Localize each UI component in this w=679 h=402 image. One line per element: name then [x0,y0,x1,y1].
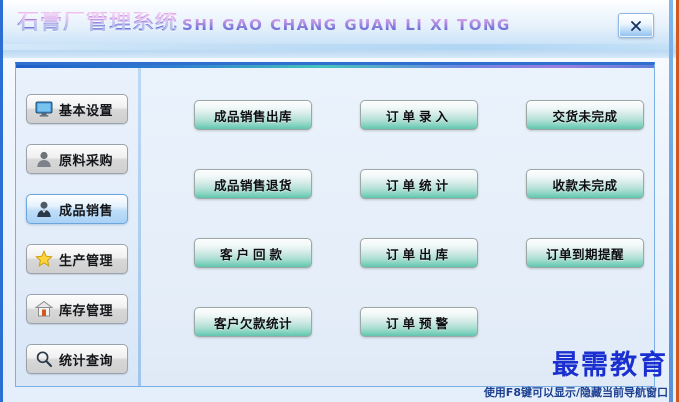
sidebar-item-label: 原料采购 [59,150,113,169]
button-order-outbound[interactable]: 订单出库 [360,238,478,268]
button-grid: 成品销售出库 成品销售退货 客户回款 客户欠款统计 订单录入 订单统计 [142,68,654,386]
app-title-pinyin: SHI GAO CHANG GUAN LI XI TONG [182,18,511,33]
button-order-entry[interactable]: 订单录入 [360,100,478,130]
button-label: 订单统计 [386,175,452,194]
button-label: 订单预警 [386,313,452,332]
button-finished-goods-sales-return[interactable]: 成品销售退货 [194,169,312,199]
title-bar-stripe [3,44,676,50]
window-right-accent [669,0,673,402]
user-gray-icon [34,149,54,169]
app-title-group: 石膏厂管理系统 SHI GAO CHANG GUAN LI XI TONG [17,12,511,34]
sidebar-item-raw-material-purchase[interactable]: 原料采购 [26,144,128,174]
sidebar-item-label: 成品销售 [59,200,113,219]
button-customer-arrears-statistics[interactable]: 客户欠款统计 [194,307,312,337]
sidebar-item-inventory-management[interactable]: 库存管理 [26,294,128,324]
button-label: 订单到期提醒 [546,244,624,263]
application-window: 石膏厂管理系统 SHI GAO CHANG GUAN LI XI TONG [0,0,679,402]
button-order-due-reminder[interactable]: 订单到期提醒 [526,238,644,268]
sidebar-item-label: 统计查询 [59,350,113,369]
button-label: 订单出库 [386,244,452,263]
sidebar-item-label: 基本设置 [59,100,113,119]
home-icon [34,299,54,319]
button-customer-payment[interactable]: 客户回款 [194,238,312,268]
button-label: 客户欠款统计 [214,313,292,332]
sidebar-divider [138,68,141,386]
button-delivery-incomplete[interactable]: 交货未完成 [526,100,644,130]
main-panel: 基本设置 原料采购 [15,62,655,387]
button-order-statistics[interactable]: 订单统计 [360,169,478,199]
status-bar-hint: 使用F8键可以显示/隐藏当前导航窗口 [484,384,668,400]
button-label: 成品销售退货 [214,175,292,194]
button-label: 订单录入 [386,106,452,125]
button-label: 客户回款 [220,244,286,263]
sidebar-item-production-management[interactable]: 生产管理 [26,244,128,274]
title-bar: 石膏厂管理系统 SHI GAO CHANG GUAN LI XI TONG [3,0,676,58]
star-icon [34,249,54,269]
sidebar-item-basic-settings[interactable]: 基本设置 [26,94,128,124]
button-label: 成品销售出库 [214,106,292,125]
close-button[interactable] [618,13,654,38]
app-root: 石膏厂管理系统 SHI GAO CHANG GUAN LI XI TONG [0,0,679,402]
button-payment-incomplete[interactable]: 收款未完成 [526,169,644,199]
user-blue-icon [34,199,54,219]
navigation-sidebar: 基本设置 原料采购 [16,68,139,386]
monitor-icon [34,99,54,119]
sidebar-item-statistics-query[interactable]: 统计查询 [26,344,128,374]
sidebar-item-label: 生产管理 [59,250,113,269]
button-order-alert[interactable]: 订单预警 [360,307,478,337]
button-finished-goods-sales-outbound[interactable]: 成品销售出库 [194,100,312,130]
button-label: 收款未完成 [552,175,617,194]
sidebar-item-finished-goods-sales[interactable]: 成品销售 [26,194,128,224]
button-label: 交货未完成 [552,106,617,125]
app-title-chinese: 石膏厂管理系统 [17,12,178,34]
sidebar-item-label: 库存管理 [59,300,113,319]
close-icon [630,20,642,32]
magnifier-icon [34,349,54,369]
